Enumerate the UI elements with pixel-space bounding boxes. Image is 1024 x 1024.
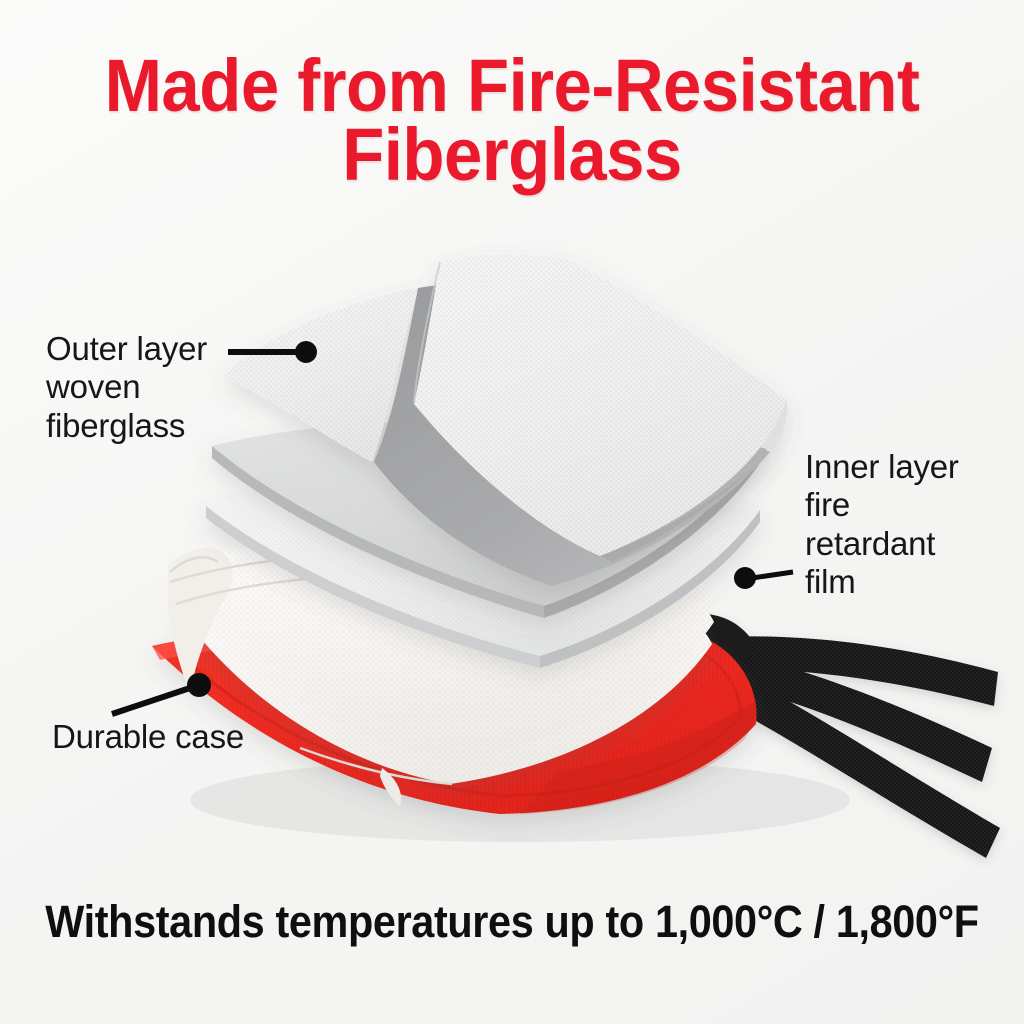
leader-dot-durable-case: [187, 673, 211, 697]
leader-dot-outer-layer: [295, 341, 317, 363]
leader-line-durable-case: [112, 688, 190, 714]
leader-line-inner-layer: [752, 572, 793, 578]
infographic-canvas: Made from Fire-Resistant Fiberglass Oute…: [0, 0, 1024, 1024]
callout-durable-case: Durable case: [52, 718, 244, 756]
callout-inner-layer: Inner layer fire retardant film: [805, 448, 959, 601]
temperature-caption: Withstands temperatures up to 1,000°C / …: [41, 896, 983, 948]
callout-outer-layer: Outer layer woven fiberglass: [46, 330, 207, 445]
page-title: Made from Fire-Resistant Fiberglass: [36, 52, 988, 190]
